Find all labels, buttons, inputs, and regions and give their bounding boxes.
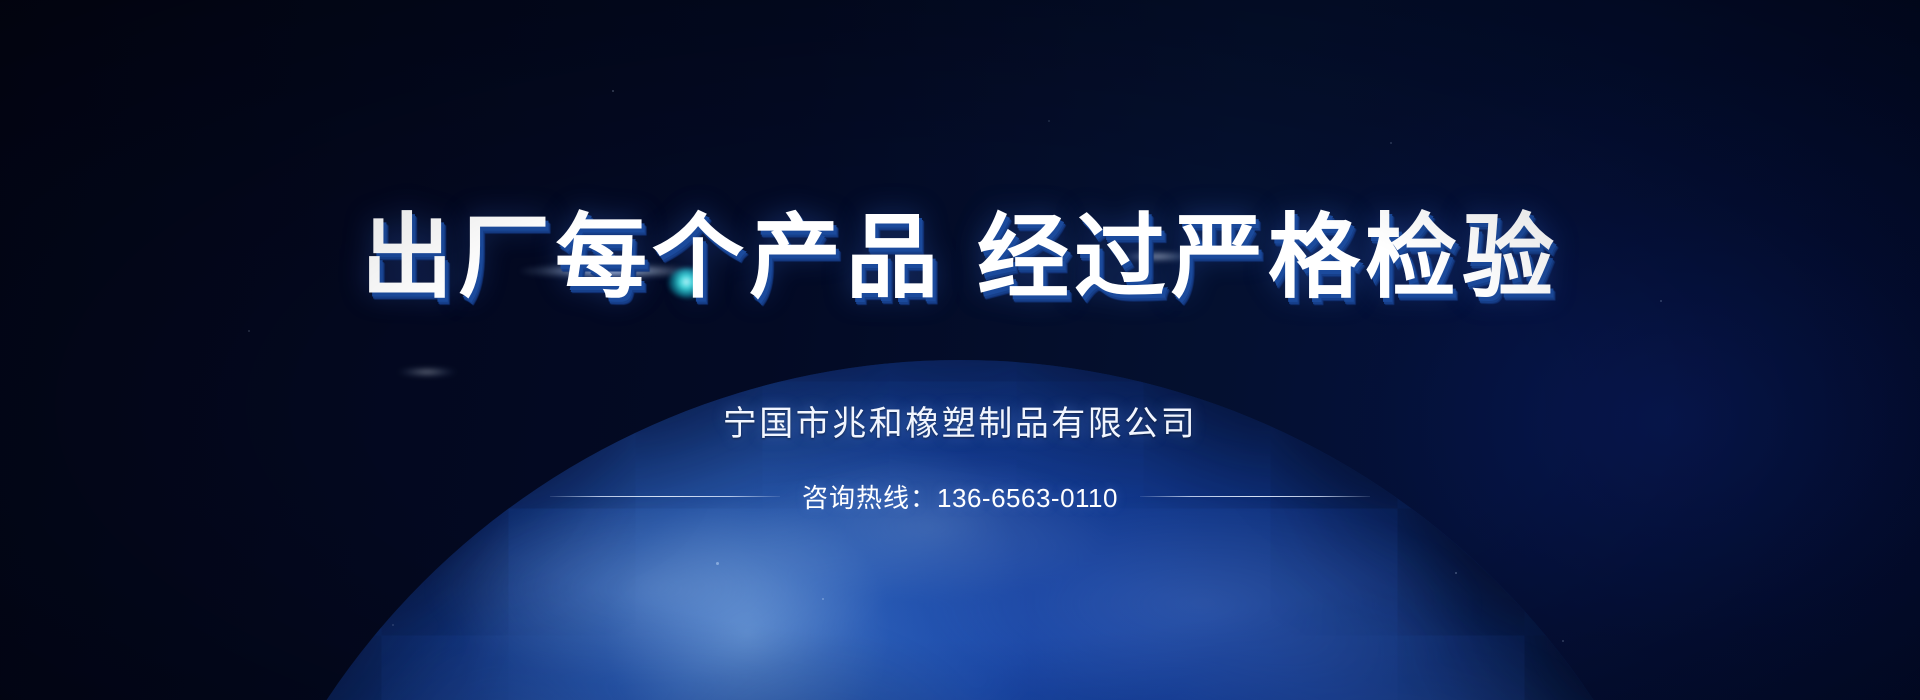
hero-banner: 出厂每个产品经过严格检验 宁国市兆和橡塑制品有限公司 咨询热线：136-6563… bbox=[0, 0, 1920, 700]
background-vignette bbox=[0, 0, 1920, 700]
